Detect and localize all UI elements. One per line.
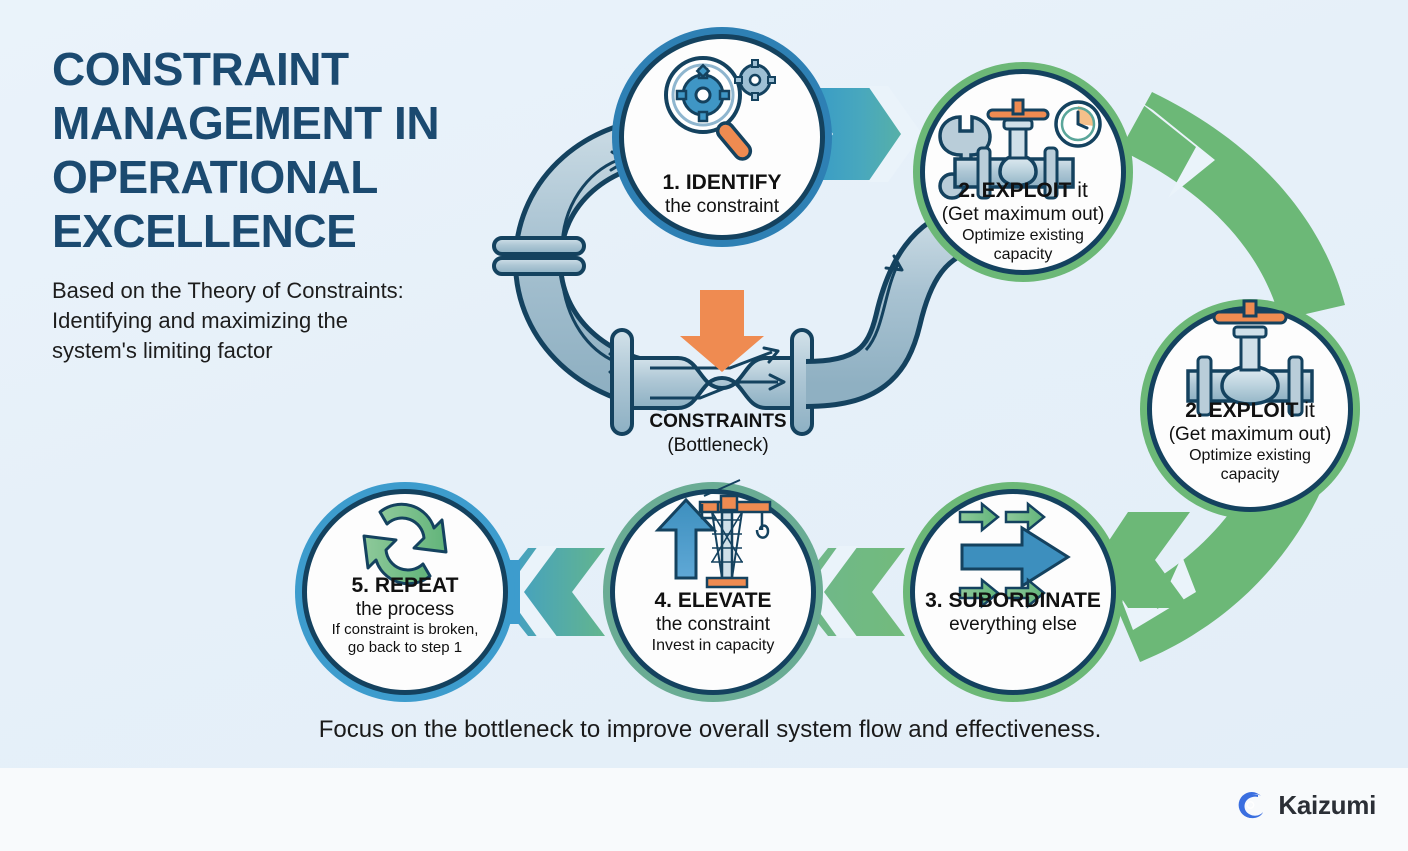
step-node-identify[interactable] <box>612 27 832 247</box>
footer-caption: Focus on the bottleneck to improve overa… <box>180 716 1240 744</box>
bottleneck-label: CONSTRAINTS (Bottleneck) <box>578 410 858 458</box>
step-node-subordinate[interactable] <box>903 482 1123 702</box>
step-node-elevate[interactable] <box>603 480 823 702</box>
kaizumi-c-brush-logo <box>1234 788 1268 822</box>
infographic-canvas: CONSTRAINT MANAGEMENT IN OPERATIONAL EXC… <box>0 0 1408 851</box>
brand-name: Kaizumi <box>1278 790 1376 821</box>
bottleneck-subtitle: (Bottleneck) <box>578 434 858 458</box>
bottleneck-title: CONSTRAINTS <box>578 410 858 434</box>
brand-logo: Kaizumi <box>1234 788 1376 822</box>
step-node-exploit-top[interactable] <box>913 62 1133 282</box>
step-node-exploit-right[interactable] <box>1140 299 1360 519</box>
step-node-repeat[interactable] <box>295 482 515 702</box>
